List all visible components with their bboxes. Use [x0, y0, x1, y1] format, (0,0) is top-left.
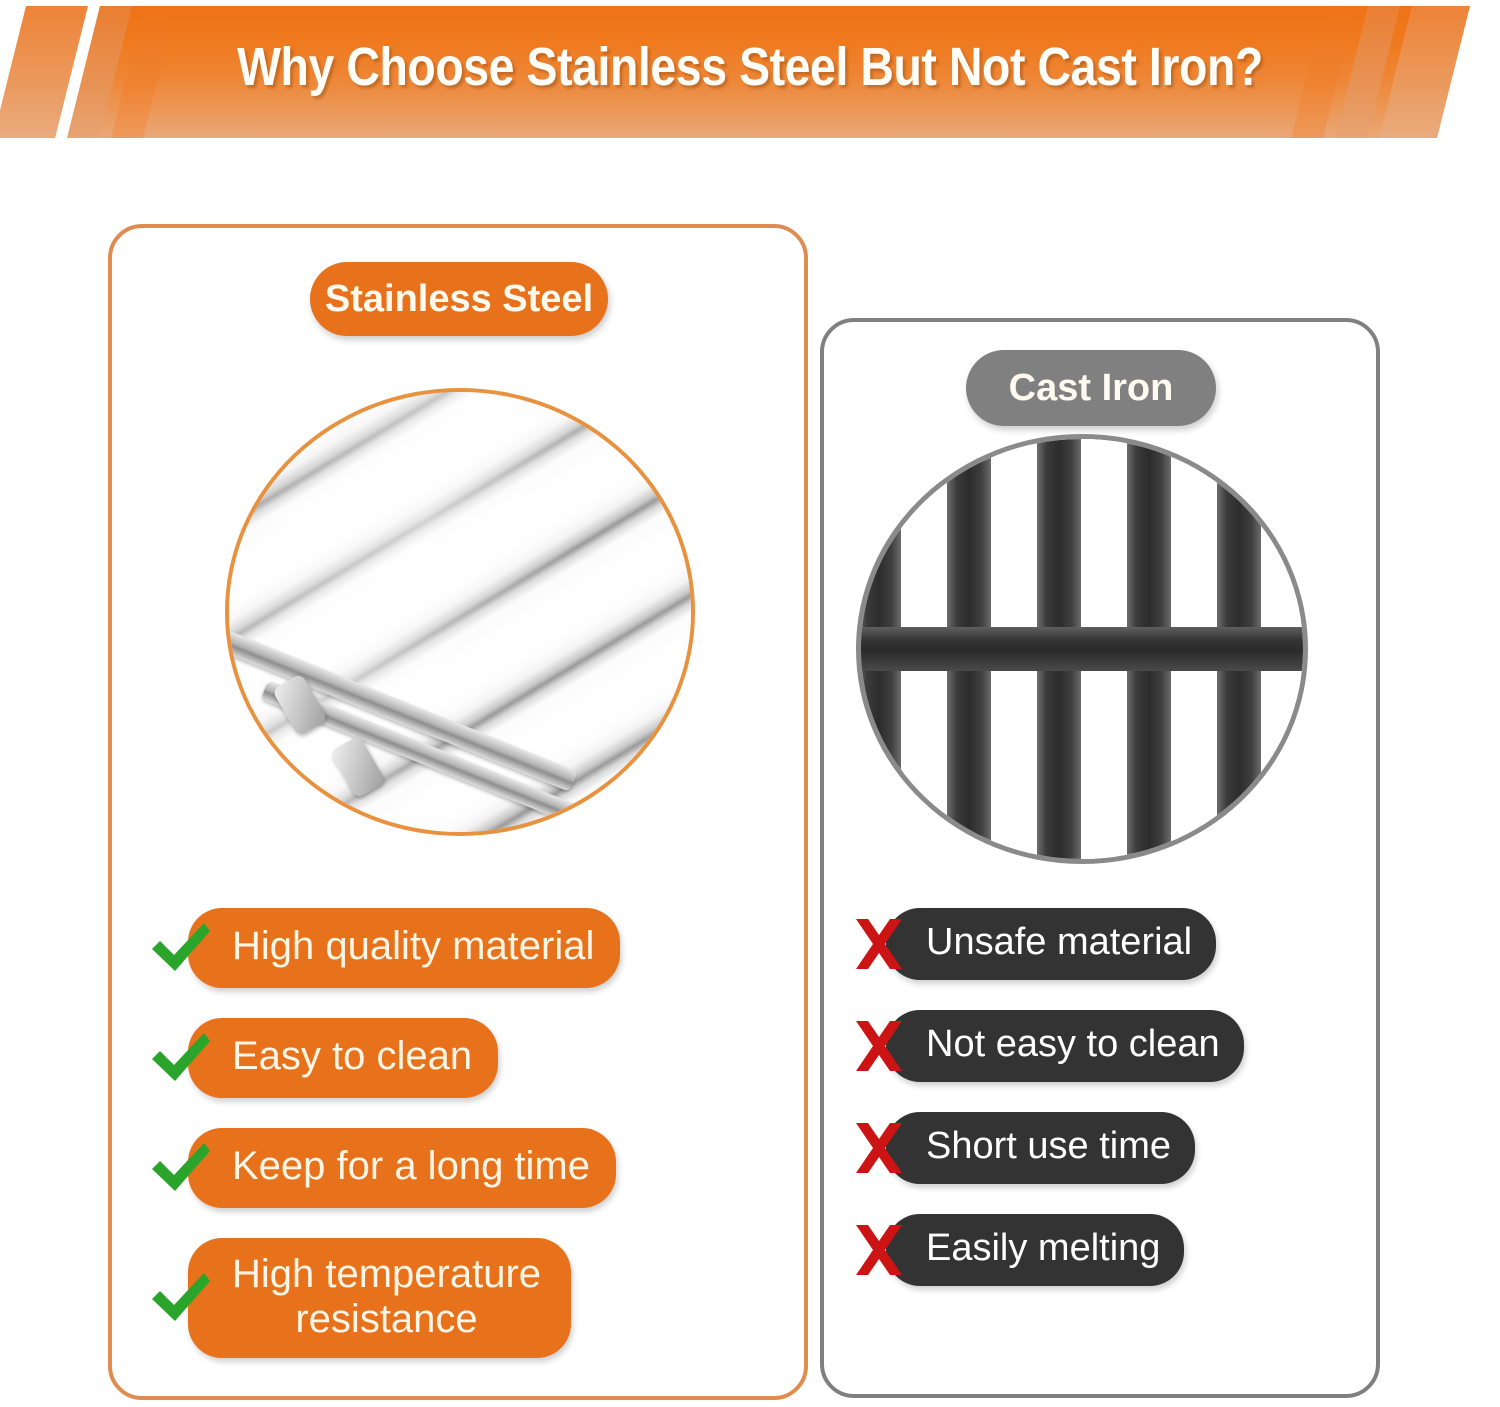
iron-gap: [903, 675, 945, 864]
list-item: Not easy to clean: [846, 1010, 1366, 1082]
cross-icon: [846, 1217, 912, 1283]
feature-label-line-2: resistance: [295, 1297, 477, 1341]
list-item: Unsafe material: [846, 908, 1366, 980]
iron-gap: [1173, 675, 1215, 864]
cast-iron-panel: Cast Iron Unsafe materi: [820, 318, 1380, 1398]
list-item: Short use time: [846, 1112, 1366, 1184]
feature-pill: Easy to clean: [188, 1018, 498, 1098]
check-icon: [148, 1265, 214, 1331]
feature-label: High quality material: [232, 925, 594, 968]
stainless-steel-photo: [225, 388, 695, 836]
cast-iron-texture: [861, 439, 1303, 859]
feature-pill: Keep for a long time: [188, 1128, 616, 1208]
iron-horizontal-bar: [856, 627, 1308, 671]
cast-iron-photo: [856, 434, 1308, 864]
page-title: Why Choose Stainless Steel But Not Cast …: [105, 36, 1395, 98]
list-item: High quality material: [148, 908, 788, 988]
feature-pill: High temperature resistance: [188, 1238, 571, 1358]
feature-label: Keep for a long time: [232, 1145, 590, 1188]
cast-iron-feature-list: Unsafe material Not easy to clean Short …: [846, 908, 1366, 1316]
feature-label: Not easy to clean: [926, 1024, 1220, 1065]
feature-label: Unsafe material: [926, 922, 1192, 963]
feature-pill: Short use time: [886, 1112, 1195, 1184]
stainless-steel-badge: Stainless Steel: [310, 262, 608, 336]
cross-icon: [846, 911, 912, 977]
stainless-steel-panel: Stainless Steel High quality material Ea…: [108, 224, 808, 1400]
iron-gap: [1263, 434, 1305, 619]
list-item: Keep for a long time: [148, 1128, 788, 1208]
check-icon: [148, 915, 214, 981]
feature-label: Easy to clean: [232, 1035, 472, 1078]
cross-icon: [846, 1115, 912, 1181]
feature-pill: Not easy to clean: [886, 1010, 1244, 1082]
feature-pill: Unsafe material: [886, 908, 1216, 980]
check-icon: [148, 1135, 214, 1201]
check-icon: [148, 1025, 214, 1091]
list-item: High temperature resistance: [148, 1238, 788, 1358]
cross-icon: [846, 1013, 912, 1079]
iron-gap: [1083, 675, 1125, 864]
header-banner: Why Choose Stainless Steel But Not Cast …: [0, 0, 1500, 160]
cast-iron-badge: Cast Iron: [966, 350, 1216, 426]
feature-label: Short use time: [926, 1126, 1171, 1167]
list-item: Easy to clean: [148, 1018, 788, 1098]
iron-gap: [903, 434, 945, 619]
iron-gap: [1263, 675, 1305, 864]
list-item: Easily melting: [846, 1214, 1366, 1286]
feature-pill: Easily melting: [886, 1214, 1184, 1286]
stainless-steel-feature-list: High quality material Easy to clean Keep…: [148, 908, 788, 1388]
iron-gap: [1173, 434, 1215, 619]
feature-pill: High quality material: [188, 908, 620, 988]
feature-label: Easily melting: [926, 1228, 1160, 1269]
iron-gap: [1083, 434, 1125, 619]
feature-label-line-1: High temperature: [232, 1252, 541, 1296]
iron-gap: [993, 675, 1035, 864]
iron-gap: [993, 434, 1035, 619]
